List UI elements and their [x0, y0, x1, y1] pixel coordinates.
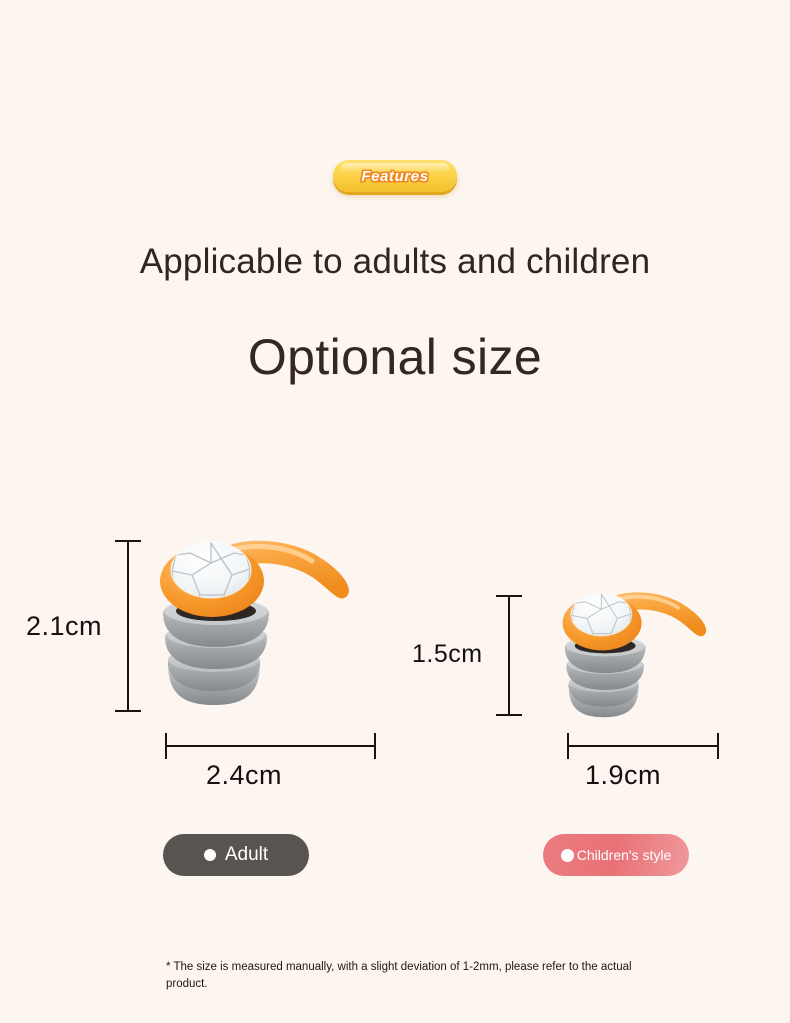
product-infographic: Features Applicable to adults and childr… [0, 0, 790, 1023]
footnote-disclaimer: * The size is measured manually, with a … [166, 959, 646, 992]
dimension-label-width-children: 1.9cm [585, 760, 661, 791]
dimension-line-vertical-adult [127, 540, 129, 711]
earplug-illustration-children [555, 585, 745, 740]
features-badge: Features [333, 160, 457, 192]
dimension-cap-top-adult [115, 540, 141, 542]
dimension-cap-left-children [567, 733, 569, 759]
dimension-line-horizontal-children [567, 745, 718, 747]
dimension-label-width-adult: 2.4cm [206, 760, 282, 791]
dimension-cap-bottom-adult [115, 710, 141, 712]
dimension-label-height-adult: 2.1cm [26, 611, 102, 642]
bullet-dot-icon [561, 849, 574, 862]
bullet-dot-icon [204, 849, 216, 861]
dimension-line-horizontal-adult [165, 745, 375, 747]
features-badge-label: Features [361, 168, 428, 185]
variant-pill-children-label: Children's style [577, 847, 672, 863]
variant-pill-adult[interactable]: Adult [163, 834, 309, 876]
dimension-line-vertical-children [508, 595, 510, 715]
heading-optional-size: Optional size [0, 328, 790, 386]
heading-applicable: Applicable to adults and children [0, 242, 790, 282]
dimension-cap-bottom-children [496, 714, 522, 716]
dimension-cap-left-adult [165, 733, 167, 759]
features-badge-wrap: Features [0, 160, 790, 192]
variant-pill-children[interactable]: Children's style [543, 834, 689, 876]
earplug-illustration-adult [150, 533, 400, 733]
variant-pill-adult-label: Adult [225, 844, 268, 866]
dimension-cap-top-children [496, 595, 522, 597]
dimension-label-height-children: 1.5cm [412, 640, 483, 669]
dimension-cap-right-children [717, 733, 719, 759]
dimension-cap-right-adult [374, 733, 376, 759]
